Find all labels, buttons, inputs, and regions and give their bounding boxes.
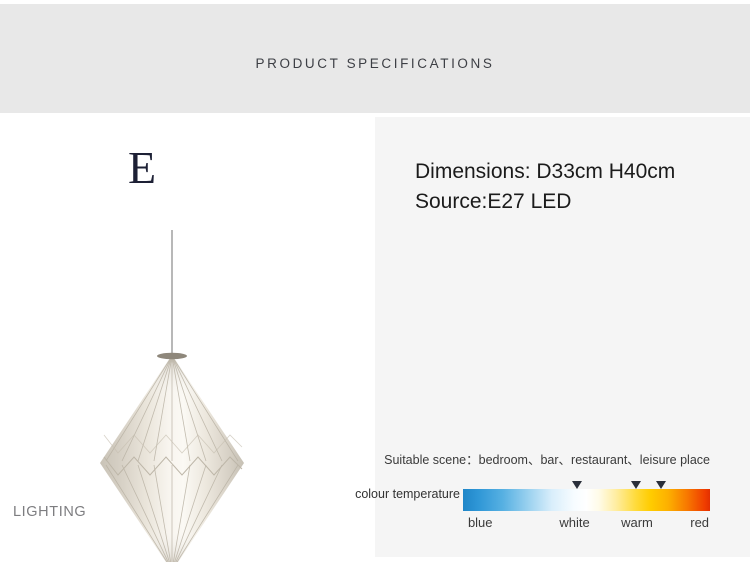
page-title: PRODUCT SPECIFICATIONS <box>0 56 750 71</box>
colour-temperature-tick-labels: bluewhitewarmred <box>463 515 710 535</box>
origami-pendant-lamp-icon <box>92 225 252 562</box>
spec-line-source: Source:E27 LED <box>415 187 745 217</box>
suitable-scene-row: Suitable scene：bedroom、bar、restaurant、le… <box>355 449 750 469</box>
colour-temperature-scale: bluewhitewarmred <box>463 481 710 551</box>
header-band: PRODUCT SPECIFICATIONS <box>0 4 750 113</box>
colour-temperature-marker-1 <box>572 481 582 489</box>
product-specification-page: PRODUCT SPECIFICATIONS E <box>0 0 750 576</box>
colour-temperature-tick-blue: blue <box>468 515 493 530</box>
colour-temperature-tick-warm: warm <box>621 515 653 530</box>
brand-wordmark: LIGHTING <box>13 504 86 520</box>
suitable-scene-text: Suitable scene：bedroom、bar、restaurant、le… <box>384 453 710 467</box>
colour-temperature-marker-3 <box>656 481 666 489</box>
brand-initial: E <box>128 145 156 191</box>
colour-temperature-label: colour temperature <box>320 487 460 501</box>
pendant-lamp-image <box>92 225 252 562</box>
colour-temperature-marker-2 <box>631 481 641 489</box>
colour-temperature-gradient-bar <box>463 489 710 511</box>
colour-temperature-block: colour temperature bluewhitewarmred <box>320 481 750 551</box>
specification-panel: Dimensions: D33cm H40cm Source:E27 LED S… <box>375 117 750 557</box>
spec-text-block: Dimensions: D33cm H40cm Source:E27 LED <box>415 157 745 217</box>
colour-temperature-tick-white: white <box>559 515 589 530</box>
spec-line-dimensions: Dimensions: D33cm H40cm <box>415 157 745 187</box>
colour-temperature-tick-red: red <box>690 515 709 530</box>
